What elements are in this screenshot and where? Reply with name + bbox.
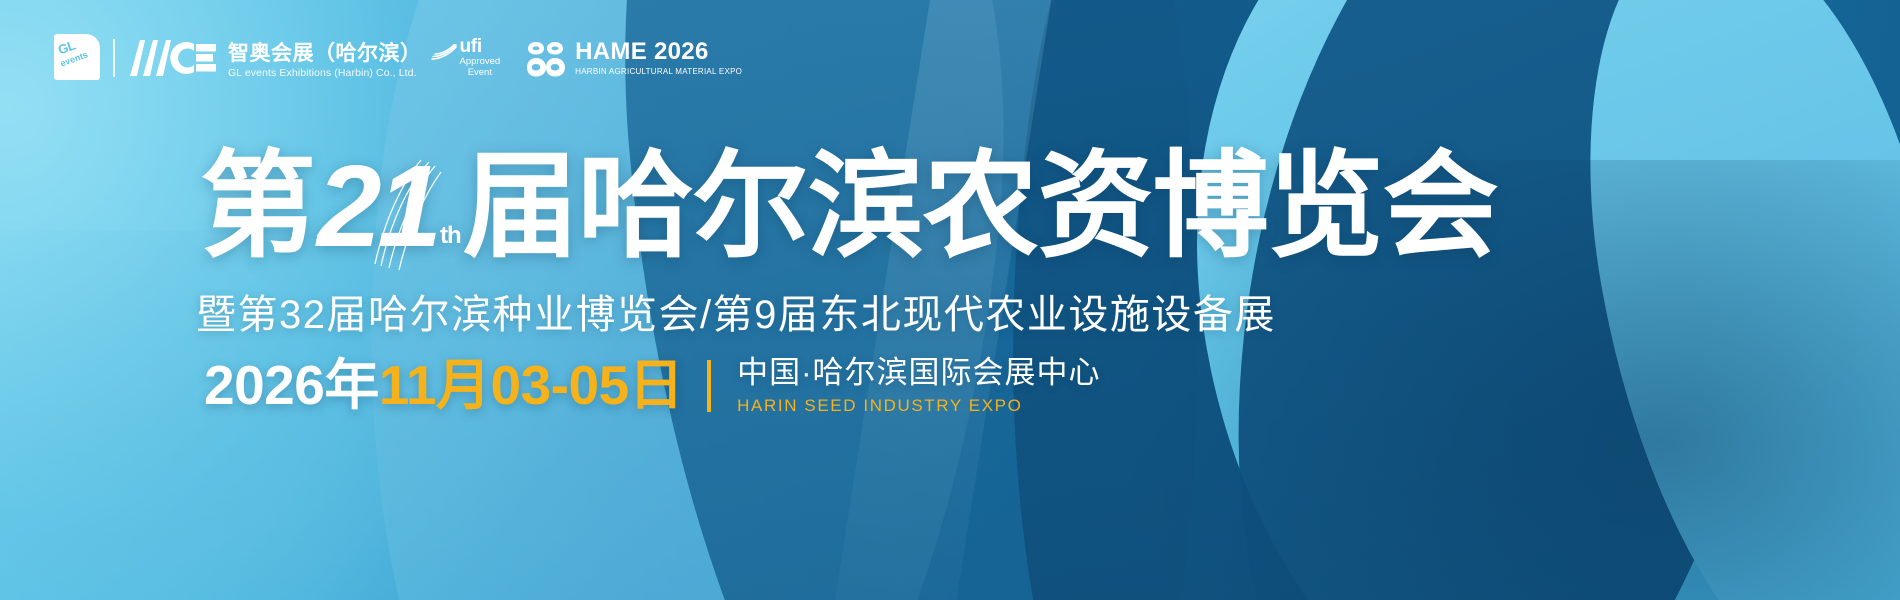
title-ordinal-suffix: th	[440, 224, 461, 248]
title-suffix: 届哈尔滨农资博览会	[463, 148, 1498, 264]
info-separator	[707, 360, 711, 412]
ufi-approved-line2: Event	[460, 68, 501, 79]
hame-88-logo-icon	[526, 40, 566, 78]
title-edition-value: 21	[317, 148, 438, 264]
event-date: 2026年11月03-05日	[204, 358, 683, 413]
aice-name-cn: 智奥会展（哈尔滨）	[228, 43, 422, 66]
hame-logo: HAME 2026 HARBIN AGRICULTURAL MATERIAL E…	[526, 40, 742, 78]
logo-divider	[113, 39, 115, 77]
event-venue: 中国·哈尔滨国际会展中心 HARIN SEED INDUSTRY EXPO	[737, 355, 1100, 417]
aice-logo-icon	[128, 38, 216, 78]
hame-subtitle: HARBIN AGRICULTURAL MATERIAL EXPO	[575, 66, 742, 77]
banner-content: 第 21 th 届哈尔滨农资博览会 暨第32届哈尔滨种业博览会/第9届东北现代农…	[0, 0, 1900, 600]
page-subtitle: 暨第32届哈尔滨种业博览会/第9届东北现代农业设施设备展	[196, 282, 1276, 340]
event-venue-cn: 中国·哈尔滨国际会展中心	[737, 355, 1100, 391]
page-title: 第 21 th 届哈尔滨农资博览会	[200, 148, 1498, 264]
ufi-approved-event-logo: ufi Approved Event	[431, 38, 501, 79]
event-date-monthday: 11月03-05日	[379, 354, 683, 416]
ufi-approved-line1: Approved	[460, 57, 501, 68]
event-banner: GL events 智奥会展（哈尔滨） GL events Exhibition…	[0, 0, 1900, 600]
event-venue-en: HARIN SEED INDUSTRY EXPO	[737, 395, 1100, 417]
title-edition-number: 21 th	[317, 148, 461, 264]
gl-events-logo: GL events	[54, 34, 100, 80]
event-date-year: 2026年	[204, 354, 379, 416]
hame-name: HAME 2026	[575, 40, 742, 64]
ufi-swoosh-icon	[431, 44, 457, 62]
aice-company-name: 智奥会展（哈尔滨） GL events Exhibitions (Harbin)…	[228, 43, 422, 80]
title-prefix: 第	[200, 148, 315, 264]
logo-strip: GL events 智奥会展（哈尔滨） GL events Exhibition…	[54, 34, 742, 80]
event-info-row: 2026年11月03-05日 中国·哈尔滨国际会展中心 HARIN SEED I…	[204, 355, 1101, 417]
aice-name-en: GL events Exhibitions (Harbin) Co., Ltd.	[228, 67, 422, 80]
ufi-name: ufi	[460, 38, 501, 56]
